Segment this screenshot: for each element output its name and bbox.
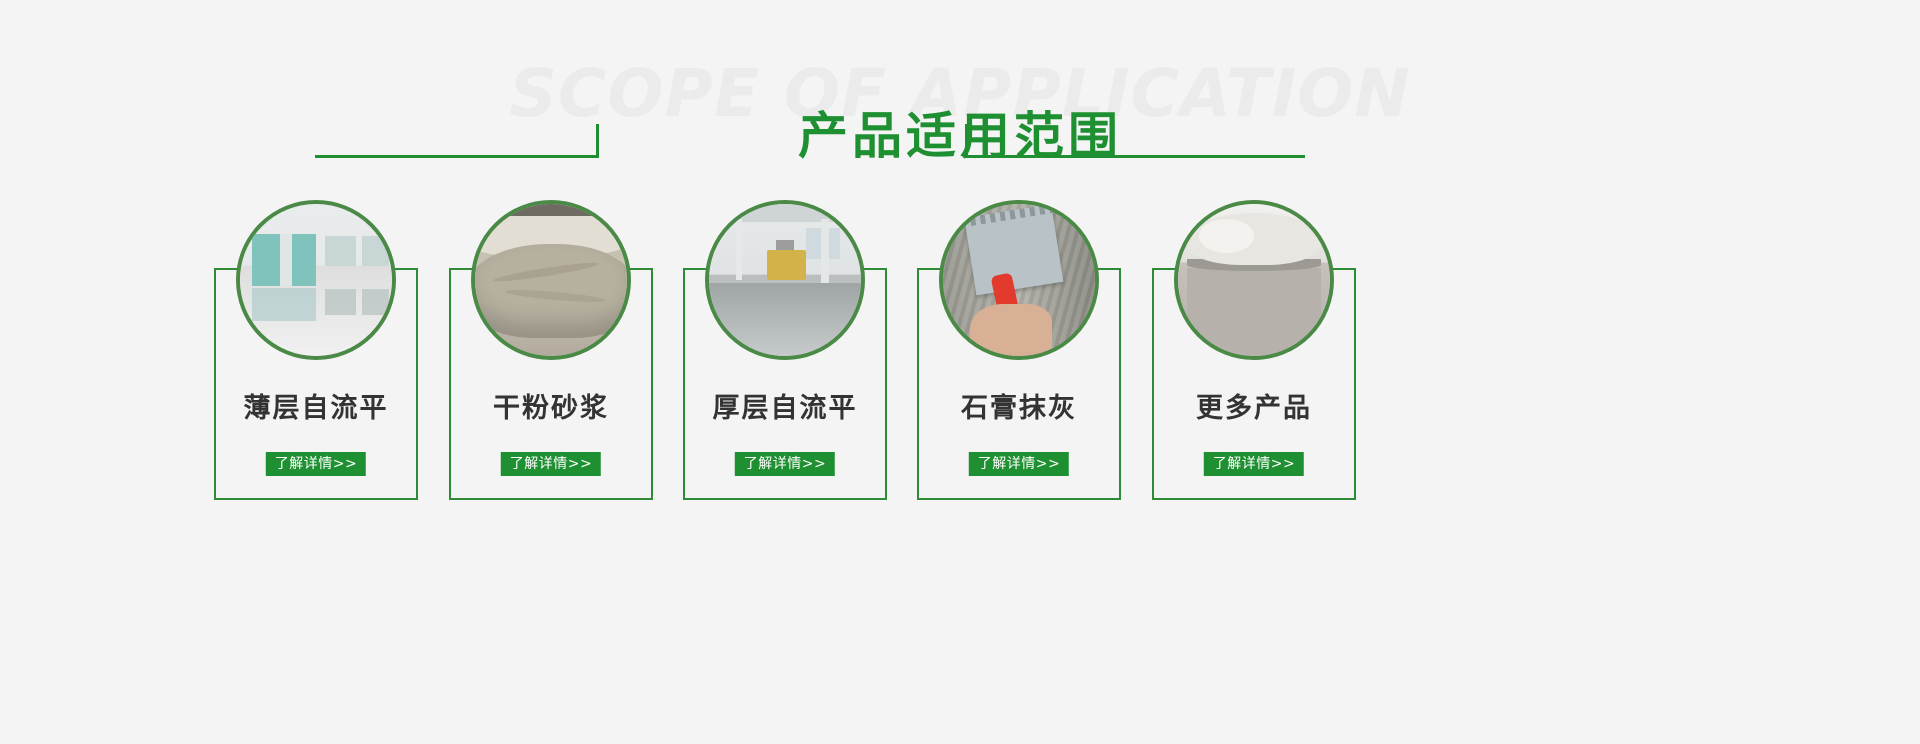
card-label: 石膏抹灰	[917, 386, 1121, 425]
more-products-surface-photo	[1178, 204, 1330, 356]
card-thumbnail[interactable]	[939, 200, 1099, 360]
application-card[interactable]: 厚层自流平 了解详情>>	[683, 200, 887, 510]
card-detail-button[interactable]: 了解详情>>	[266, 452, 366, 476]
card-thumbnail[interactable]	[1174, 200, 1334, 360]
card-thumbnail[interactable]	[236, 200, 396, 360]
card-label: 厚层自流平	[683, 386, 887, 425]
application-card[interactable]: 更多产品 了解详情>>	[1152, 200, 1356, 510]
application-card[interactable]: 干粉砂浆 了解详情>>	[449, 200, 653, 510]
scope-of-application-section: SCOPE OF APPLICATION 产品适用范围 薄层自流平 了解详情>>	[0, 0, 1920, 744]
card-detail-button[interactable]: 了解详情>>	[969, 452, 1069, 476]
application-card[interactable]: 石膏抹灰 了解详情>>	[917, 200, 1121, 510]
card-label: 干粉砂浆	[449, 386, 653, 425]
application-card[interactable]: 薄层自流平 了解详情>>	[214, 200, 418, 510]
section-header: SCOPE OF APPLICATION 产品适用范围	[0, 0, 1920, 200]
gypsum-plaster-trowel-photo	[943, 204, 1095, 356]
card-detail-button[interactable]: 了解详情>>	[501, 452, 601, 476]
card-label: 更多产品	[1152, 386, 1356, 425]
card-thumbnail[interactable]	[705, 200, 865, 360]
thick-layer-self-leveling-workshop-photo	[709, 204, 861, 356]
card-thumbnail[interactable]	[471, 200, 631, 360]
dry-powder-mortar-pile-photo	[475, 204, 627, 356]
card-detail-button[interactable]: 了解详情>>	[735, 452, 835, 476]
thin-layer-self-leveling-floor-photo	[240, 204, 392, 356]
card-label: 薄层自流平	[214, 386, 418, 425]
section-title-row: 产品适用范围	[0, 104, 1920, 184]
card-detail-button[interactable]: 了解详情>>	[1204, 452, 1304, 476]
application-card-list: 薄层自流平 了解详情>> 干粉砂浆 了解详情>>	[0, 200, 1920, 620]
section-title: 产品适用范围	[0, 104, 1920, 168]
